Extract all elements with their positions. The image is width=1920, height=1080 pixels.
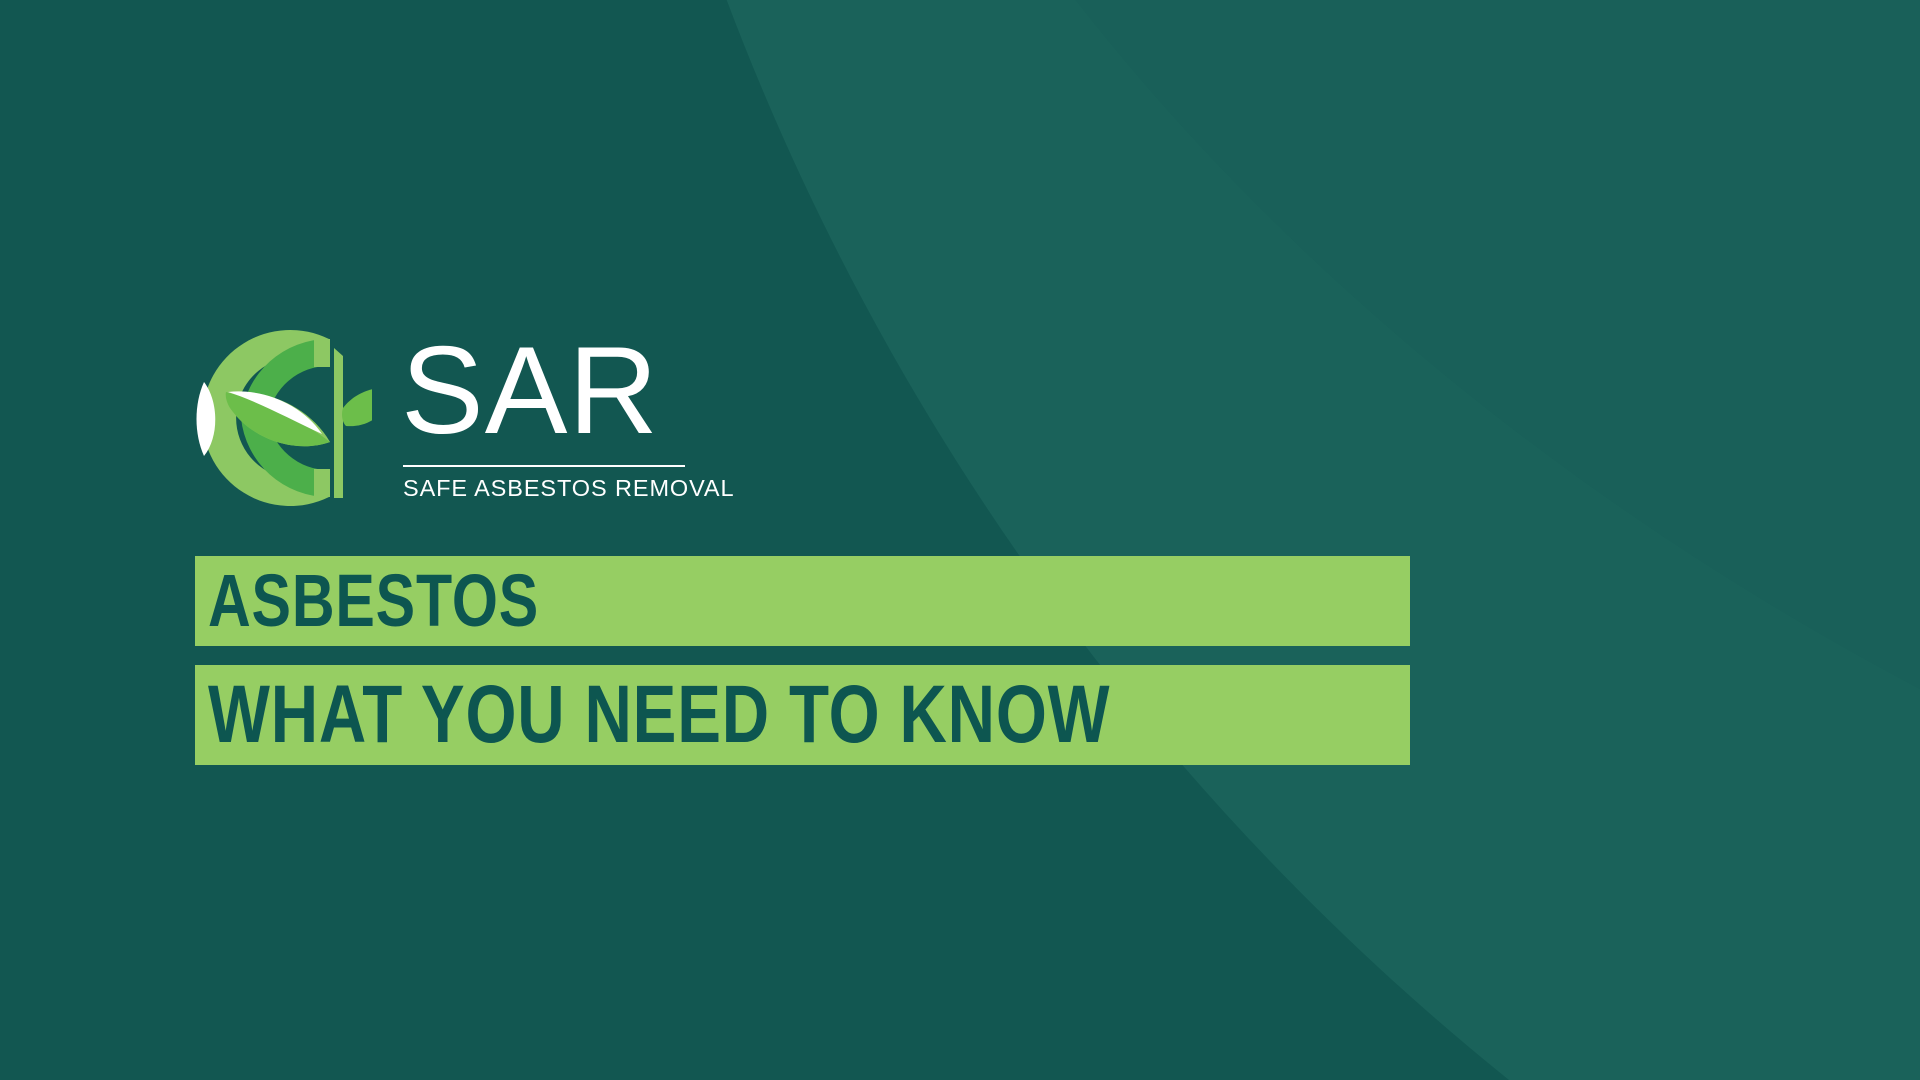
headline-line-2: WHAT YOU NEED TO KNOW [208, 674, 1110, 756]
logo-stem-group [334, 348, 343, 498]
logo-ring-terminal-top [314, 339, 330, 367]
logo-tagline: SAFE ASBESTOS REMOVAL [403, 475, 734, 502]
logo-ring-terminal-bottom [314, 469, 330, 497]
logo-wordmark: SAR SAFE ASBESTOS REMOVAL [401, 332, 691, 507]
headline-banner-secondary: WHAT YOU NEED TO KNOW [195, 665, 1410, 765]
headline-line-1: ASBESTOS [208, 564, 539, 638]
background-decoration [0, 0, 1920, 1080]
logo-leaf-small [342, 387, 372, 426]
logo-wordmark-text: SAR [401, 332, 659, 450]
logo: SAR SAFE ASBESTOS REMOVAL [196, 330, 696, 510]
headline-banner-primary: ASBESTOS [195, 556, 1410, 646]
sar-leaf-circle-logo-icon [196, 330, 372, 506]
logo-stem [334, 348, 343, 498]
logo-divider-rule [403, 465, 685, 467]
slide-canvas: SAR SAFE ASBESTOS REMOVAL ASBESTOS WHAT … [0, 0, 1920, 1080]
